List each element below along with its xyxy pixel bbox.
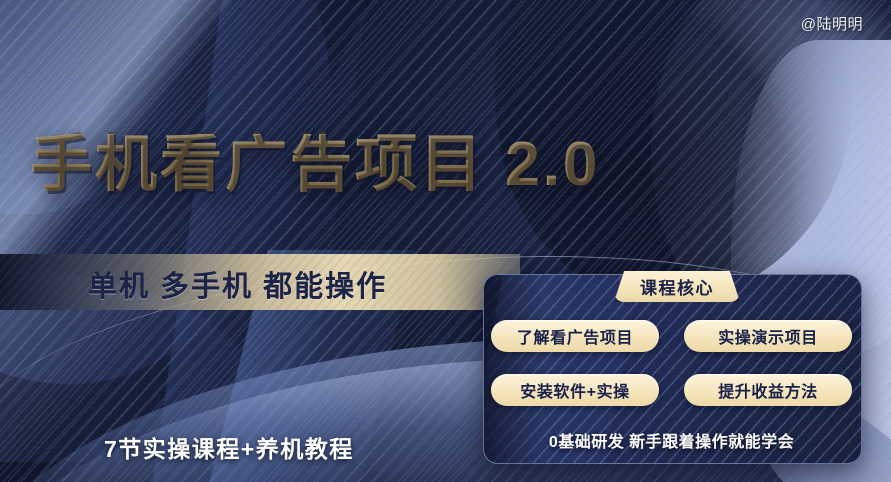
author-handle: @陆明明 — [801, 13, 863, 34]
course-core-banner: 课程核心 — [614, 271, 740, 302]
course-pill-2[interactable]: 实操演示项目 — [684, 320, 852, 352]
course-core-pill-grid: 了解看广告项目 实操演示项目 安装软件+实操 提升收益方法 — [483, 320, 860, 406]
course-pill-2-label: 实操演示项目 — [718, 324, 818, 348]
course-pill-1-label: 了解看广告项目 — [517, 324, 633, 348]
course-core-banner-label: 课程核心 — [640, 274, 714, 299]
course-pill-4-label: 提升收益方法 — [718, 378, 818, 402]
course-pill-1[interactable]: 了解看广告项目 — [491, 320, 659, 352]
course-core-footer: 0基础研发 新手跟着操作就能学会 — [483, 428, 860, 452]
course-pill-3[interactable]: 安装软件+实操 — [491, 374, 659, 406]
promo-poster: @陆明明 手机看广告项目 2.0 单机 多手机 都能操作 7节实操课程+养机教程… — [0, 0, 891, 482]
course-pill-4[interactable]: 提升收益方法 — [684, 374, 852, 406]
subtitle-text: 单机 多手机 都能操作 — [88, 263, 387, 305]
course-count-note: 7节实操课程+养机教程 — [104, 430, 354, 464]
page-title: 手机看广告项目 2.0 — [30, 134, 600, 196]
course-pill-3-label: 安装软件+实操 — [520, 378, 630, 402]
